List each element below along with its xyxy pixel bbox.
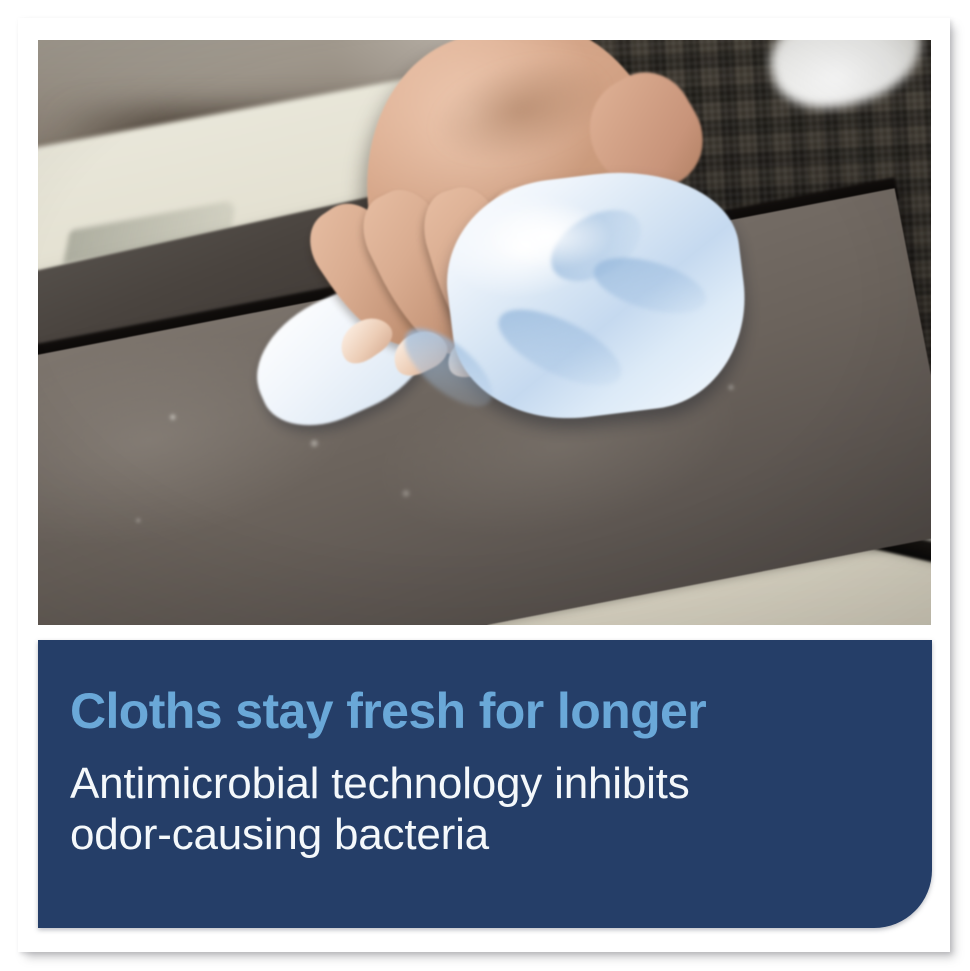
photo-cloth-highlight: [485, 204, 610, 268]
promo-card: Cloths stay fresh for longer Antimicrobi…: [18, 18, 950, 952]
caption-subheadline: Antimicrobial technology inhibits odor-c…: [70, 758, 690, 860]
caption-subheadline-line-2: odor-causing bacteria: [70, 809, 690, 860]
caption-subheadline-line-1: Antimicrobial technology inhibits: [70, 758, 690, 809]
caption-panel: Cloths stay fresh for longer Antimicrobi…: [38, 640, 932, 928]
product-photo: [38, 40, 931, 625]
caption-headline: Cloths stay fresh for longer: [70, 686, 706, 736]
